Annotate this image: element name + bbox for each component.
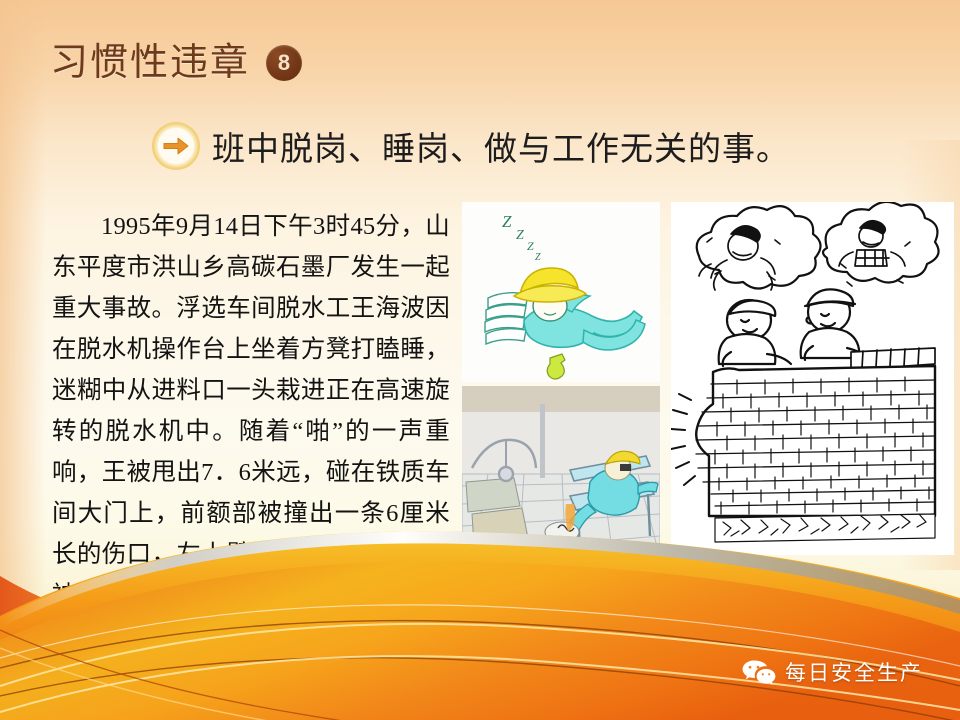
svg-text:Z: Z bbox=[502, 212, 512, 231]
arrow-icon-inner bbox=[158, 128, 194, 164]
svg-text:Z: Z bbox=[516, 228, 524, 243]
support-column bbox=[540, 404, 545, 478]
subtitle-row: 班中脱岗、睡岗、做与工作无关的事。 bbox=[152, 122, 790, 170]
slide-title-row: 习惯性违章 8 bbox=[50, 44, 302, 82]
workshop-drawing bbox=[462, 386, 660, 565]
illustration-daydreaming-bricklayers bbox=[671, 202, 954, 555]
watermark-text: 每日安全生产 bbox=[785, 657, 923, 687]
sack-stack bbox=[485, 293, 528, 344]
page-title: 习惯性违章 bbox=[50, 44, 250, 82]
left-edge-tint bbox=[0, 0, 46, 720]
arrow-right-icon bbox=[152, 122, 200, 170]
case-description-paragraph: 1995年9月14日下午3时45分，山东平度市洪山乡高碳石墨厂发生一起重大事故。… bbox=[52, 206, 450, 657]
svg-text:Z: Z bbox=[527, 239, 534, 253]
status-badge: 8 bbox=[266, 45, 302, 81]
arrow-right-glyph bbox=[162, 134, 190, 158]
rubble-foundation bbox=[715, 514, 935, 542]
wechat-icon bbox=[742, 659, 776, 685]
svg-text:Z: Z bbox=[535, 252, 541, 263]
watermark: 每日安全生产 bbox=[742, 657, 923, 687]
illustration-workshop-resting bbox=[462, 386, 660, 565]
bricklayers-drawing bbox=[671, 202, 954, 555]
sleeping-worker-drawing: Z Z Z Z bbox=[462, 202, 660, 382]
subtitle-text: 班中脱岗、睡岗、做与工作无关的事。 bbox=[212, 122, 790, 170]
illustration-sleeping-worker: Z Z Z Z bbox=[462, 202, 660, 382]
spilled-item bbox=[547, 354, 565, 379]
slide-canvas: 习惯性违章 8 班中脱岗、睡岗、做与工作无关的事。 1995年9月14日下午3时… bbox=[0, 0, 960, 720]
